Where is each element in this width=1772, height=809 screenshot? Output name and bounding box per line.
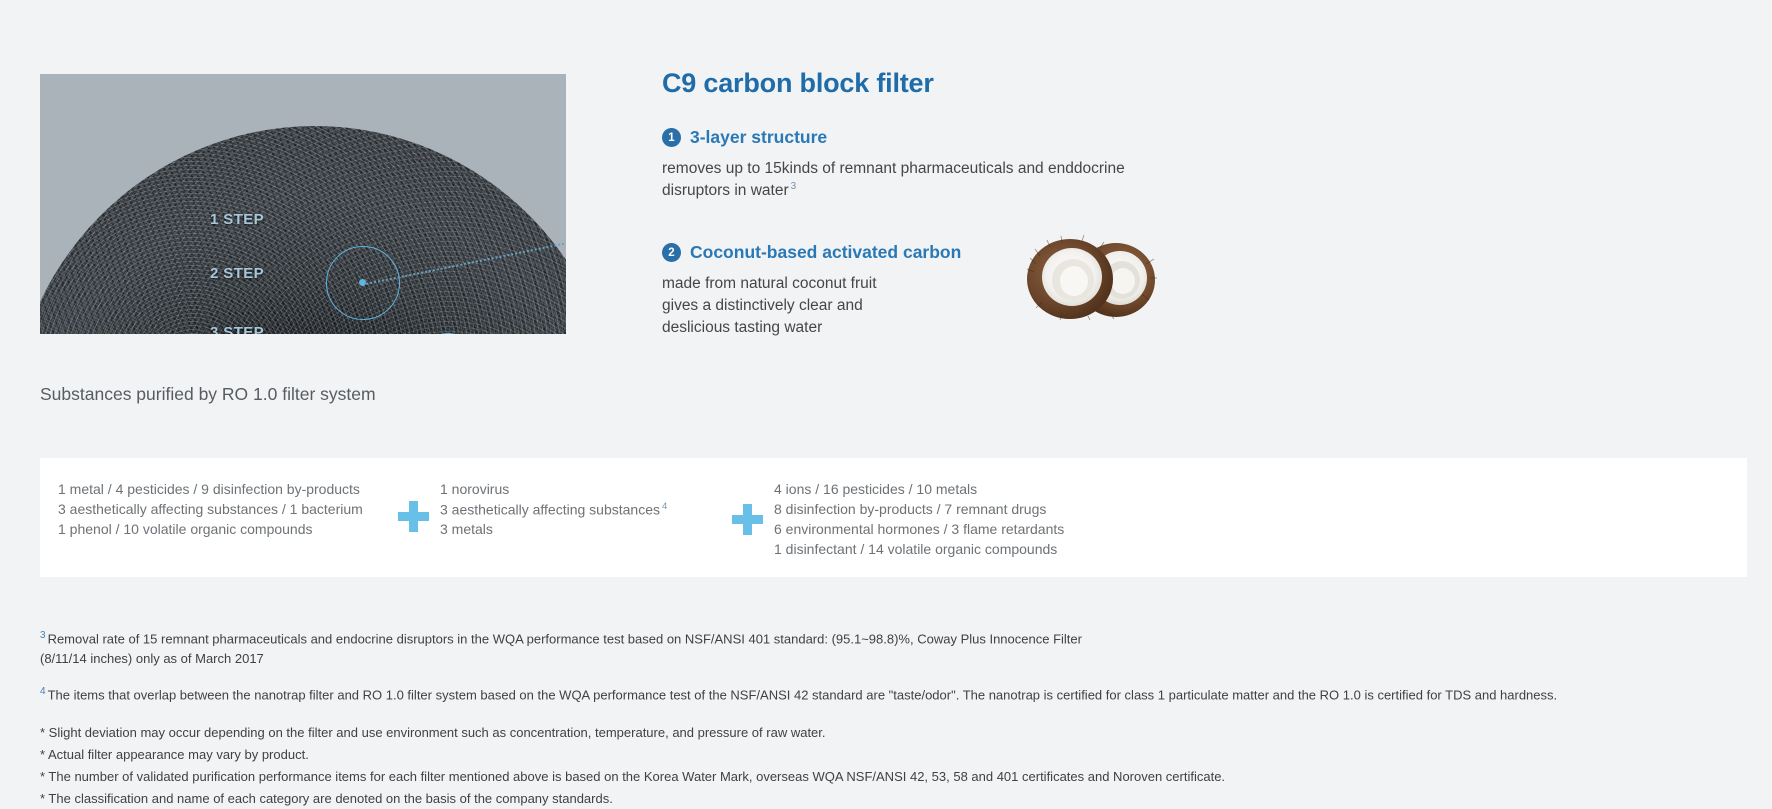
- step-label-3: 3 STEP: [210, 324, 264, 334]
- footnote-star-3: * The number of validated purification p…: [40, 766, 1740, 788]
- substance-group-3: 4 ions / 16 pesticides / 10 metals 8 dis…: [774, 480, 1174, 560]
- substance-group-2: 1 norovirus 3 aesthetically affecting su…: [440, 480, 730, 540]
- plus-icon: [730, 480, 774, 540]
- substance-line: 1 norovirus: [440, 480, 730, 500]
- footnote-3-marker: 3: [40, 630, 46, 641]
- plus-icon: [396, 480, 440, 540]
- substance-line: 1 metal / 4 pesticides / 9 disinfection …: [58, 480, 396, 500]
- substance-group-1: 1 metal / 4 pesticides / 9 disinfection …: [58, 480, 396, 540]
- substance-line: 6 environmental hormones / 3 flame retar…: [774, 520, 1174, 540]
- footnote-star-2: * Actual filter appearance may vary by p…: [40, 744, 1740, 766]
- substances-card: 1 metal / 4 pesticides / 9 disinfection …: [40, 458, 1747, 577]
- substance-line: 1 phenol / 10 volatile organic compounds: [58, 520, 396, 540]
- footnote-3-line-1: 3Removal rate of 15 remnant pharmaceutic…: [40, 628, 1740, 649]
- footnote-3: 3Removal rate of 15 remnant pharmaceutic…: [40, 628, 1740, 668]
- footnotes-section: 3Removal rate of 15 remnant pharmaceutic…: [40, 628, 1740, 809]
- feature-point-1-body: removes up to 15kinds of remnant pharmac…: [662, 158, 1162, 202]
- filter-overview-section: 1 STEP 2 STEP 3 STEP C9 carbon block fil…: [0, 0, 1772, 360]
- coconut-image: [1022, 234, 1158, 320]
- footnote-ref-4: 4: [662, 501, 667, 512]
- page-title: C9 carbon block filter: [662, 68, 1182, 99]
- number-badge-1: 1: [662, 128, 681, 147]
- number-badge-2: 2: [662, 243, 681, 262]
- feature-point-1-text: removes up to 15kinds of remnant pharmac…: [662, 160, 1125, 199]
- step-label-1: 1 STEP: [210, 211, 264, 228]
- substances-card-inner: 1 metal / 4 pesticides / 9 disinfection …: [58, 480, 1174, 560]
- substance-line: 3 aesthetically affecting substances / 1…: [58, 500, 396, 520]
- feature-point-1-header: 1 3-layer structure: [662, 127, 1182, 148]
- substance-line: 3 metals: [440, 520, 730, 540]
- feature-point-2-title: Coconut-based activated carbon: [690, 242, 961, 263]
- carbon-block-filter-image: 1 STEP 2 STEP 3 STEP: [40, 74, 566, 334]
- substance-line: 8 disinfection by-products / 7 remnant d…: [774, 500, 1174, 520]
- substances-heading: Substances purified by RO 1.0 filter sys…: [40, 384, 376, 405]
- footnote-star-4: * The classification and name of each ca…: [40, 788, 1740, 809]
- substance-line: 3 aesthetically affecting substances4: [440, 500, 730, 521]
- footnote-4-text: The items that overlap between the nanot…: [48, 688, 1558, 703]
- feature-point-1-title: 3-layer structure: [690, 127, 827, 148]
- substance-line-text: 3 aesthetically affecting substances: [440, 502, 660, 518]
- substance-line: 4 ions / 16 pesticides / 10 metals: [774, 480, 1174, 500]
- footnote-star-1: * Slight deviation may occur depending o…: [40, 722, 1740, 744]
- footnote-4-marker: 4: [40, 686, 46, 697]
- footnote-3-text-1: Removal rate of 15 remnant pharmaceutica…: [48, 631, 1082, 646]
- footnote-ref-3: 3: [791, 181, 797, 192]
- feature-point-1: 1 3-layer structure removes up to 15kind…: [662, 127, 1182, 202]
- step-label-2: 2 STEP: [210, 265, 264, 282]
- feature-point-2-line-3: deslicious tasting water: [662, 317, 1162, 339]
- footnote-4: 4The items that overlap between the nano…: [40, 684, 1740, 705]
- footnote-3-line-2: (8/11/14 inches) only as of March 2017: [40, 649, 1740, 669]
- carbon-arc-texture: [40, 126, 566, 334]
- substance-line: 1 disinfectant / 14 volatile organic com…: [774, 540, 1174, 560]
